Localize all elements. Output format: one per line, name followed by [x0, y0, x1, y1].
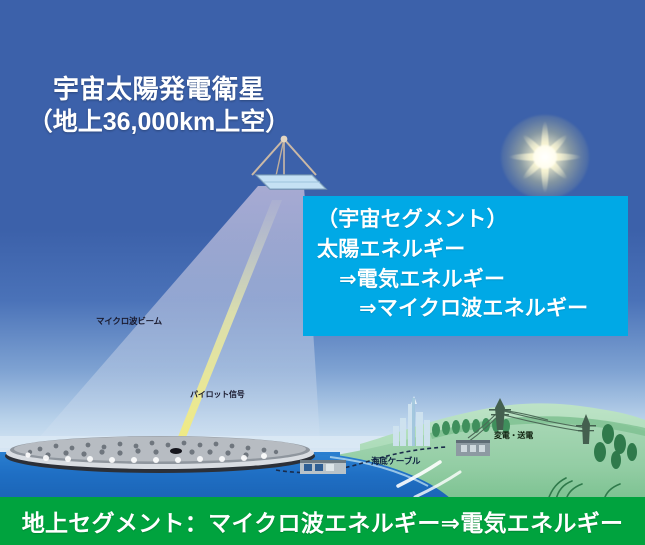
rectenna-platform	[5, 436, 315, 473]
substation-label: 変電・送電	[494, 430, 533, 441]
info-line-3: ⇒マイクロ波エネルギー	[317, 294, 628, 324]
pilot-signal-label: パイロット信号	[190, 389, 245, 400]
title-line-1: 宇宙太陽発電衛星	[14, 72, 304, 106]
info-heading: （宇宙セグメント）	[317, 205, 628, 235]
figure-canvas: 宇宙太陽発電衛星 （地上36,000km上空） （宇宙セグメント） 太陽エネルギ…	[0, 0, 645, 545]
cable-landing-station	[300, 460, 346, 474]
submarine-cable-label: 海底ケーブル	[371, 455, 420, 467]
city-tower	[412, 398, 415, 446]
ground-segment-banner-text: 地上セグメント：マイクロ波エネルギー⇒電気エネルギー	[22, 504, 624, 538]
solar-power-satellite-icon	[234, 133, 334, 205]
space-segment-info-box: （宇宙セグメント） 太陽エネルギー ⇒電気エネルギー ⇒マイクロ波エネルギー	[303, 196, 628, 336]
info-line-2: ⇒電気エネルギー	[317, 265, 628, 295]
city-skyline	[393, 396, 430, 446]
substation-building	[456, 440, 490, 456]
ground-segment-banner: 地上セグメント：マイクロ波エネルギー⇒電気エネルギー	[0, 497, 645, 545]
microwave-beam-label: マイクロ波ビーム	[96, 315, 162, 327]
title-line-2: （地上36,000km上空）	[14, 106, 304, 139]
page-title: 宇宙太陽発電衛星 （地上36,000km上空）	[14, 72, 304, 139]
info-line-1: 太陽エネルギー	[317, 235, 628, 265]
